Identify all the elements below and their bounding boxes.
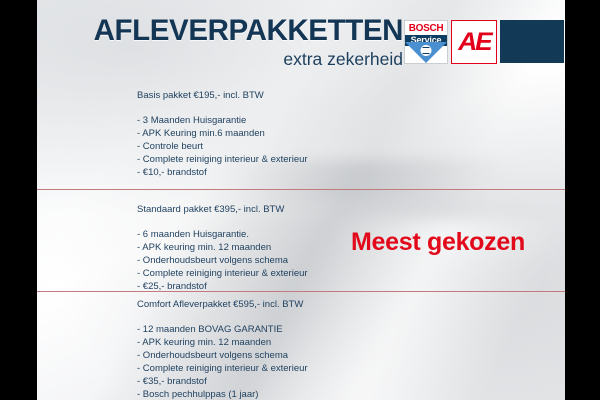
dark-placeholder-logo	[500, 20, 564, 63]
list-item: - 3 Maanden Huisgarantie	[137, 114, 308, 127]
ae-wordmark: AE	[458, 30, 490, 55]
list-item: - Complete reiniging interieur & exterie…	[137, 153, 308, 166]
package-title: Basis pakket €195,- incl. BTW	[137, 91, 308, 101]
list-item: - 6 maanden Huisgarantie.	[137, 228, 308, 241]
package-standaard: Standaard pakket €395,- incl. BTW - 6 ma…	[137, 205, 308, 293]
page-subtitle: extra zekerheid	[73, 50, 403, 68]
list-item: - Controle beurt	[137, 140, 308, 153]
slide-content-panel: AFLEVERPAKKETTEN extra zekerheid BOSCH S…	[37, 0, 565, 400]
logo-strip: BOSCH Service AE	[404, 20, 564, 64]
list-item: - APK Keuring min.6 maanden	[137, 127, 308, 140]
package-feature-list: - 12 maanden BOVAG GARANTIE - APK keurin…	[137, 323, 308, 400]
package-basis: Basis pakket €195,- incl. BTW - 3 Maande…	[137, 91, 308, 179]
list-item: - Complete reiniging interieur & exterie…	[137, 362, 308, 375]
title-block: AFLEVERPAKKETTEN extra zekerheid	[73, 16, 403, 68]
letterbox-bar-left	[0, 0, 37, 400]
package-feature-list: - 6 maanden Huisgarantie. - APK keuring …	[137, 228, 308, 293]
list-item: - Onderhoudsbeurt volgens schema	[137, 254, 308, 267]
list-item: - APK keuring min. 12 maanden	[137, 241, 308, 254]
package-comfort: Comfort Afleverpakket €595,- incl. BTW -…	[137, 300, 308, 400]
list-item: - Complete reiniging interieur & exterie…	[137, 267, 308, 280]
package-feature-list: - 3 Maanden Huisgarantie - APK Keuring m…	[137, 114, 308, 179]
bosch-service-logo: BOSCH Service	[404, 20, 448, 64]
page-title: AFLEVERPAKKETTEN	[73, 16, 403, 46]
letterbox-bar-right	[565, 0, 600, 400]
list-item: - Bosch pechhulppas (1 jaar)	[137, 388, 308, 400]
bosch-wordmark: BOSCH	[409, 24, 444, 34]
most-chosen-badge: Meest gekozen	[351, 228, 525, 257]
slide-canvas: AFLEVERPAKKETTEN extra zekerheid BOSCH S…	[0, 0, 600, 400]
list-item: - €25,- brandstof	[137, 280, 308, 293]
slide-header: AFLEVERPAKKETTEN extra zekerheid BOSCH S…	[37, 0, 565, 74]
list-item: - 12 maanden BOVAG GARANTIE	[137, 323, 308, 336]
ae-logo: AE	[451, 20, 497, 64]
bosch-armature-icon	[421, 45, 432, 56]
list-item: - €10,- brandstof	[137, 166, 308, 179]
list-item: - Onderhoudsbeurt volgens schema	[137, 349, 308, 362]
list-item: - €35,- brandstof	[137, 375, 308, 388]
list-item: - APK keuring min. 12 maanden	[137, 336, 308, 349]
package-title: Comfort Afleverpakket €595,- incl. BTW	[137, 300, 308, 310]
package-divider-1	[37, 189, 565, 190]
package-title: Standaard pakket €395,- incl. BTW	[137, 205, 308, 215]
